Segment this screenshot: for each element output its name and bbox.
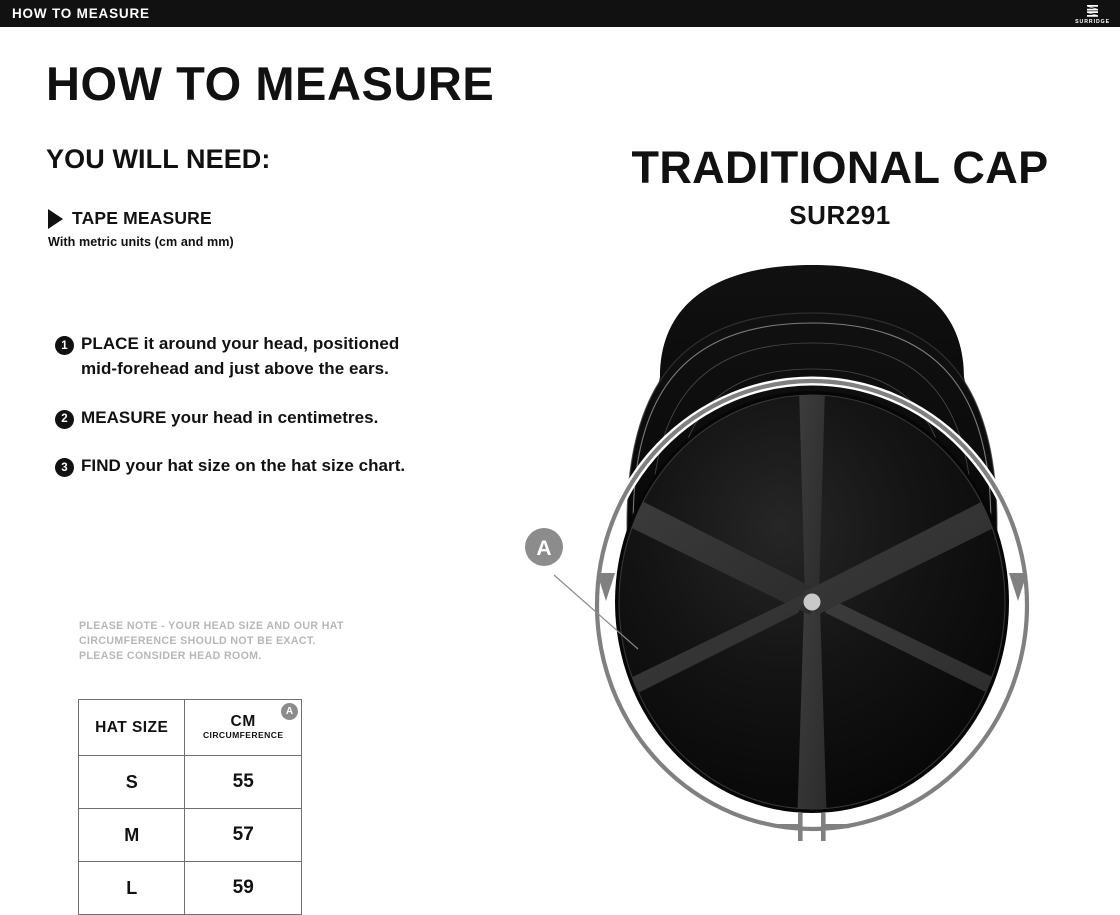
step-number-badge: 3 (55, 458, 74, 477)
table-row: L 59 (79, 862, 302, 915)
cell-cm: 55 (185, 756, 302, 809)
left-column: HOW TO MEASURE YOU WILL NEED: TAPE MEASU… (0, 27, 560, 883)
measurement-a-badge: A (281, 703, 298, 720)
callout-a-label: A (536, 537, 551, 560)
table-header-cm-sublabel: CIRCUMFERENCE (186, 730, 300, 741)
cell-cm: 57 (185, 809, 302, 862)
crown-center-button (804, 594, 821, 611)
disclaimer-note: PLEASE NOTE - YOUR HEAD SIZE AND OUR HAT… (79, 619, 344, 664)
product-code: SUR291 (560, 202, 1120, 228)
tool-row: TAPE MEASURE (48, 209, 212, 229)
step-text: PLACE it around your head, positioned mi… (81, 332, 415, 382)
product-title: TRADITIONAL CAP (560, 145, 1120, 190)
step-number-badge: 2 (55, 410, 74, 429)
table-row: S 55 (79, 756, 302, 809)
top-bar-title: HOW TO MEASURE (0, 7, 150, 21)
tool-name: TAPE MEASURE (72, 210, 212, 228)
measure-endcap-left-bar (778, 824, 802, 828)
cell-cm: 59 (185, 862, 302, 915)
top-bar: HOW TO MEASURE SURRIDGE (0, 0, 1120, 27)
brand-wordmark: SURRIDGE (1075, 20, 1110, 25)
surridge-s-logo-icon (1084, 2, 1101, 19)
page-title: HOW TO MEASURE (46, 60, 494, 107)
tool-subtitle: With metric units (cm and mm) (48, 236, 234, 249)
step-number-badge: 1 (55, 336, 74, 355)
you-will-need-title: YOU WILL NEED: (46, 146, 271, 173)
right-column: TRADITIONAL CAP SUR291 (560, 27, 1120, 883)
measure-endcap-right (821, 813, 826, 841)
disclaimer-line: PLEASE CONSIDER HEAD ROOM. (79, 649, 344, 664)
table-header-row: HAT SIZE CM CIRCUMFERENCE A (79, 700, 302, 756)
disclaimer-line: PLEASE NOTE - YOUR HEAD SIZE AND OUR HAT (79, 619, 344, 634)
cell-hat-size: M (79, 809, 185, 862)
table-header-hat-size-label: HAT SIZE (95, 719, 168, 736)
table-header-cm: CM CIRCUMFERENCE A (185, 700, 302, 756)
step-text: FIND your hat size on the hat size chart… (81, 454, 405, 479)
step-item: 1 PLACE it around your head, positioned … (55, 332, 415, 382)
measure-endcap-right-bar (825, 824, 849, 828)
disclaimer-line: CIRCUMFERENCE SHOULD NOT BE EXACT. (79, 634, 344, 649)
cap-illustration: A (510, 257, 1120, 883)
triangle-right-icon (48, 209, 63, 229)
brand-logo: SURRIDGE (1075, 2, 1120, 25)
table-header-hat-size: HAT SIZE (79, 700, 185, 756)
table-row: M 57 (79, 809, 302, 862)
step-item: 2 MEASURE your head in centimetres. (55, 406, 415, 431)
steps-list: 1 PLACE it around your head, positioned … (55, 332, 415, 503)
cell-hat-size: L (79, 862, 185, 915)
step-item: 3 FIND your hat size on the hat size cha… (55, 454, 415, 479)
step-text: MEASURE your head in centimetres. (81, 406, 378, 431)
cell-hat-size: S (79, 756, 185, 809)
